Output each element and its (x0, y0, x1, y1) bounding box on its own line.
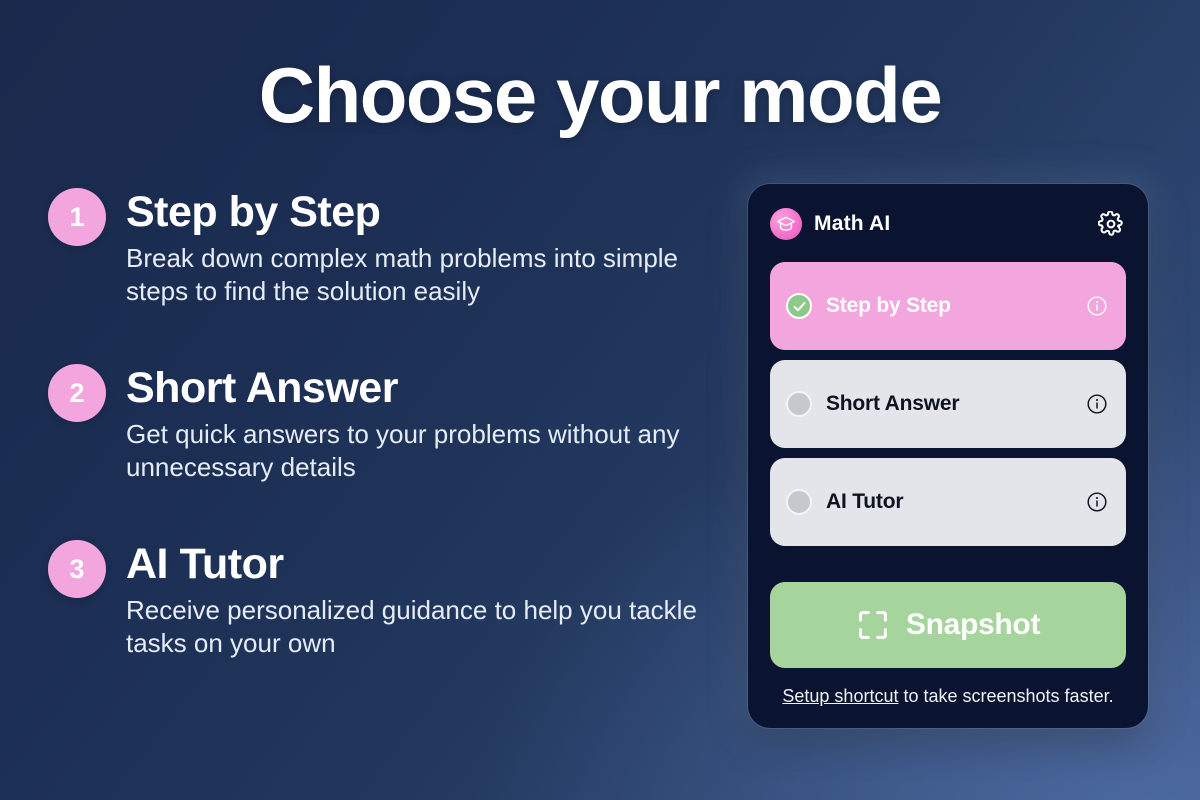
setup-shortcut-link[interactable]: Setup shortcut (782, 686, 898, 706)
feature-description: Break down complex math problems into si… (126, 242, 714, 308)
info-icon[interactable] (1086, 491, 1108, 513)
feature-title: Step by Step (126, 186, 714, 238)
feature-item-step-by-step: 1 Step by Step Break down complex math p… (48, 186, 714, 308)
feature-description: Receive personalized guidance to help yo… (126, 594, 714, 660)
feature-list: 1 Step by Step Break down complex math p… (48, 186, 714, 660)
card-footer: Setup shortcut to take screenshots faste… (770, 684, 1126, 708)
feature-number-badge: 2 (48, 364, 106, 422)
info-icon[interactable] (1086, 295, 1108, 317)
gear-icon[interactable] (1096, 209, 1126, 239)
graduation-cap-icon (770, 208, 802, 240)
feature-number-badge: 1 (48, 188, 106, 246)
mode-option-label: AI Tutor (826, 490, 1086, 514)
math-ai-app-card: Math AI Step by Step (748, 184, 1148, 728)
feature-item-short-answer: 2 Short Answer Get quick answers to your… (48, 362, 714, 484)
feature-title: AI Tutor (126, 538, 714, 590)
card-footer-text: to take screenshots faster. (898, 686, 1113, 706)
snapshot-label: Snapshot (906, 608, 1040, 642)
check-circle-icon (786, 293, 812, 319)
radio-empty-icon (786, 489, 812, 515)
app-name: Math AI (814, 212, 1096, 236)
feature-number-badge: 3 (48, 540, 106, 598)
feature-item-ai-tutor: 3 AI Tutor Receive personalized guidance… (48, 538, 714, 660)
mode-option-step-by-step[interactable]: Step by Step (770, 262, 1126, 350)
snapshot-button[interactable]: Snapshot (770, 582, 1126, 668)
card-header: Math AI (770, 202, 1126, 246)
page-title: Choose your mode (0, 52, 1200, 138)
crop-frame-icon (856, 608, 890, 642)
mode-option-label: Short Answer (826, 392, 1086, 416)
mode-option-short-answer[interactable]: Short Answer (770, 360, 1126, 448)
mode-option-ai-tutor[interactable]: AI Tutor (770, 458, 1126, 546)
info-icon[interactable] (1086, 393, 1108, 415)
mode-options-list: Step by Step Short Answer (770, 262, 1126, 546)
feature-description: Get quick answers to your problems witho… (126, 418, 714, 484)
radio-empty-icon (786, 391, 812, 417)
feature-title: Short Answer (126, 362, 714, 414)
mode-option-label: Step by Step (826, 294, 1086, 318)
